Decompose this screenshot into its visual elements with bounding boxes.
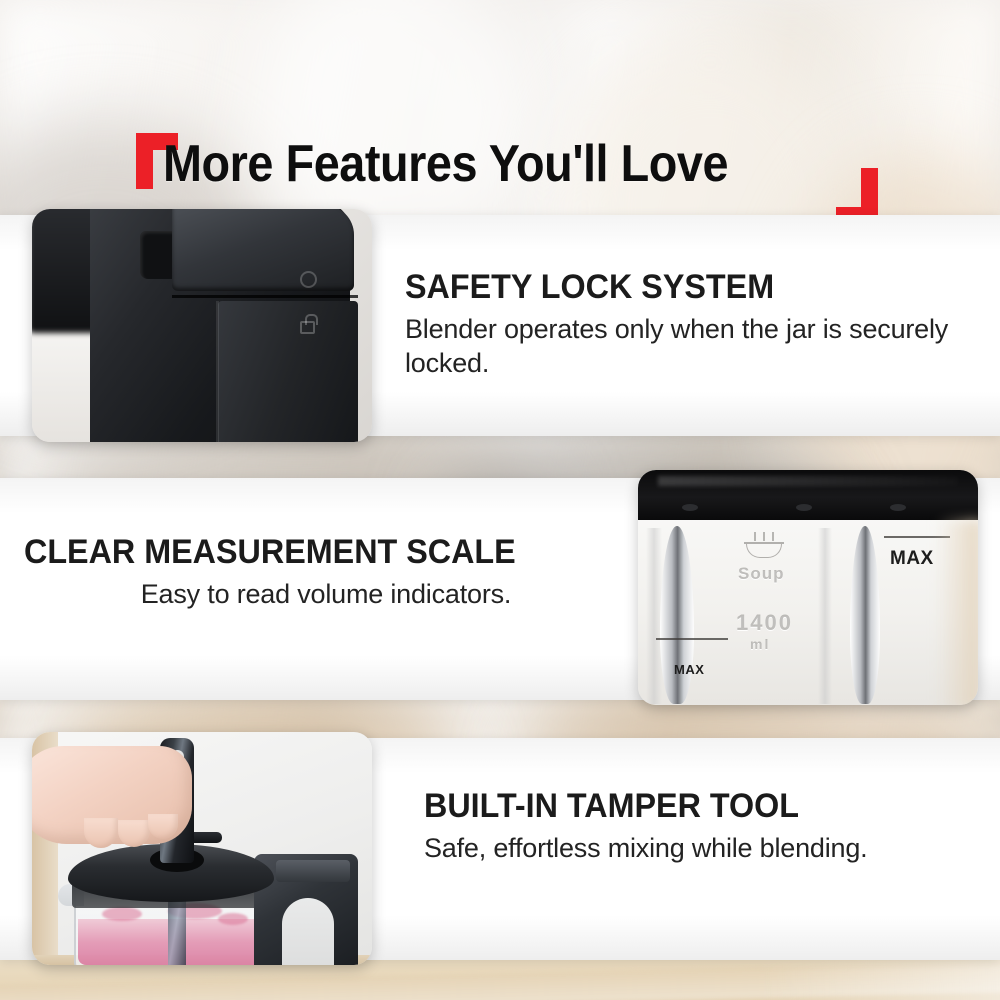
photo-jar-rib — [818, 528, 832, 704]
feature-panel-built-in-tamper-tool: BUILT-IN TAMPER TOOL Safe, effortless mi… — [0, 738, 1000, 960]
page-title: More Features You'll Love — [163, 138, 728, 190]
volume-unit: ml — [750, 636, 770, 652]
feature-image-clear-measurement-scale: Soup 1400 ml MAX MAX — [638, 470, 978, 705]
photo-jar-handle-tab — [276, 860, 350, 882]
feature-description: Easy to read volume indicators. — [24, 578, 614, 611]
photo-jar-handle-cutout — [282, 898, 334, 965]
feature-title: CLEAR MEASUREMENT SCALE — [24, 534, 585, 570]
photo-lid-stud — [796, 504, 812, 511]
padlock-icon — [300, 321, 315, 334]
photo-edge-blur — [936, 520, 978, 705]
photo-lid-gloss — [658, 476, 958, 486]
max-label-upper: MAX — [890, 548, 934, 570]
feature-copy-built-in-tamper-tool: BUILT-IN TAMPER TOOL Safe, effortless mi… — [424, 788, 984, 866]
feature-panel-safety-lock-system: SAFETY LOCK SYSTEM Blender operates only… — [0, 215, 1000, 436]
photo-smoothie-splatter — [218, 913, 248, 925]
poster-title-block: More Features You'll Love — [0, 60, 1000, 170]
circle-marker-icon — [300, 271, 317, 288]
photo-lid-seam — [172, 295, 358, 298]
feature-image-built-in-tamper-tool — [32, 732, 372, 965]
photo-handle-face — [218, 301, 358, 442]
photo-handle-groove — [216, 301, 219, 442]
feature-description: Blender operates only when the jar is se… — [405, 313, 985, 380]
feature-description: Safe, effortless mixing while blending. — [424, 832, 984, 865]
feature-copy-clear-measurement-scale: CLEAR MEASUREMENT SCALE Easy to read vol… — [24, 534, 614, 612]
steaming-bowl-icon — [744, 532, 784, 558]
feature-copy-safety-lock-system: SAFETY LOCK SYSTEM Blender operates only… — [405, 269, 985, 380]
feature-title: BUILT-IN TAMPER TOOL — [424, 788, 956, 824]
photo-lid-stud — [682, 504, 698, 511]
photo-smoothie-splatter — [102, 907, 142, 921]
photo-lid-cap — [172, 209, 354, 291]
soup-label: Soup — [738, 564, 785, 584]
photo-lid-stud — [890, 504, 906, 511]
max-line-lower — [656, 638, 728, 640]
feature-title: SAFETY LOCK SYSTEM — [405, 269, 956, 305]
max-label-lower: MAX — [674, 662, 704, 677]
volume-value: 1400 — [736, 610, 793, 636]
feature-panel-clear-measurement-scale: CLEAR MEASUREMENT SCALE Easy to read vol… — [0, 478, 1000, 700]
feature-poster: More Features You'll Love SAFETY LOCK SY… — [0, 0, 1000, 1000]
feature-image-safety-lock-system — [32, 209, 372, 442]
